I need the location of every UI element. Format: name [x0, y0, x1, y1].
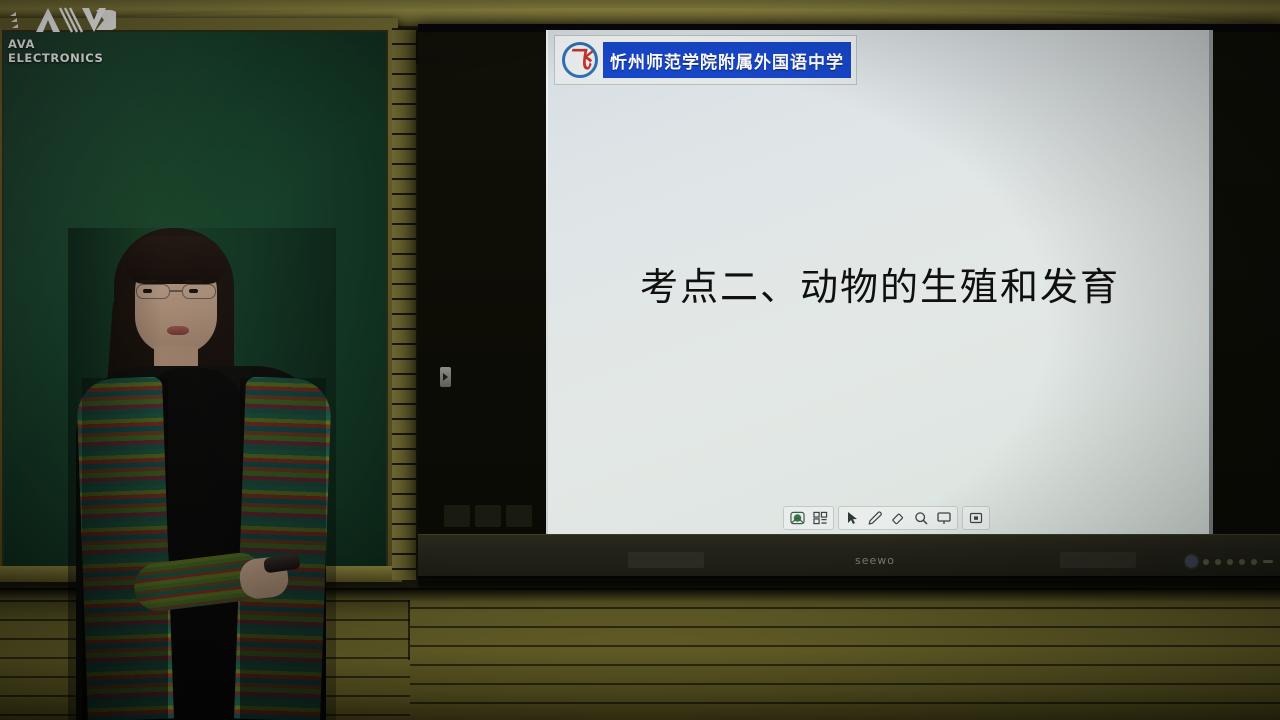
eye-left: [143, 289, 152, 293]
chevron-right-icon: [443, 373, 448, 381]
school-logo-icon: 飞: [559, 39, 601, 81]
mouth: [167, 326, 189, 335]
bezel-speaker-right: [1060, 552, 1136, 568]
teacher: [68, 228, 336, 720]
home-screen-icon[interactable]: [787, 509, 807, 527]
cursor-select-icon[interactable]: [842, 509, 862, 527]
school-banner: 飞 忻州师范学院附属外国语中学: [554, 35, 857, 85]
pen-icon[interactable]: [865, 509, 885, 527]
hair-fringe: [126, 236, 226, 284]
apps-grid-icon[interactable]: [810, 509, 830, 527]
eye-right: [189, 289, 198, 293]
bezel-button[interactable]: [1227, 559, 1233, 565]
panel-button[interactable]: [444, 505, 470, 527]
lens-right: [182, 284, 216, 299]
display-bottom-bezel: [418, 534, 1280, 581]
display-brand-label: seewo: [855, 554, 895, 567]
ava-watermark: AVA ELECTRONICS: [8, 6, 132, 52]
toolbar-group-primary[interactable]: [783, 506, 834, 530]
panel-button[interactable]: [475, 505, 501, 527]
toolbar-group-tools[interactable]: [838, 506, 958, 530]
ava-logo: [8, 6, 116, 36]
slat-seam: [408, 600, 410, 660]
ir-sensor: [1263, 560, 1273, 563]
bezel-control-buttons[interactable]: [1186, 556, 1273, 567]
presentation-slide: 飞 忻州师范学院附属外国语中学 考点二、动物的生殖和发育: [548, 30, 1212, 534]
blackboard-icon[interactable]: [934, 509, 954, 527]
panel-button[interactable]: [506, 505, 532, 527]
power-button[interactable]: [1186, 556, 1197, 567]
wall-ruled-strip: [392, 28, 416, 580]
school-name-text: 忻州师范学院附属外国语中学: [603, 42, 851, 78]
cardigan-shading-right: [240, 378, 326, 720]
bezel-button[interactable]: [1203, 559, 1209, 565]
eraser-icon[interactable]: [888, 509, 908, 527]
bezel-speaker-left: [628, 552, 704, 568]
sidebar-expand-tab[interactable]: [440, 367, 451, 387]
panel-buttons[interactable]: [444, 505, 532, 527]
present-icon[interactable]: [966, 509, 986, 527]
lens-left: [136, 284, 170, 299]
ava-watermark-text: AVA ELECTRONICS: [8, 37, 132, 65]
bezel-button[interactable]: [1215, 559, 1221, 565]
bezel-button[interactable]: [1239, 559, 1245, 565]
slide-title: 考点二、动物的生殖和发育: [548, 256, 1212, 311]
glasses-bridge: [170, 290, 182, 292]
slide-toolbar[interactable]: [783, 507, 990, 529]
toolbar-group-present[interactable]: [962, 506, 990, 530]
classroom-scene: 飞 忻州师范学院附属外国语中学 考点二、动物的生殖和发育: [0, 0, 1280, 720]
magnifier-icon[interactable]: [911, 509, 931, 527]
bezel-button[interactable]: [1251, 559, 1257, 565]
cardigan-shading-left: [82, 378, 168, 720]
